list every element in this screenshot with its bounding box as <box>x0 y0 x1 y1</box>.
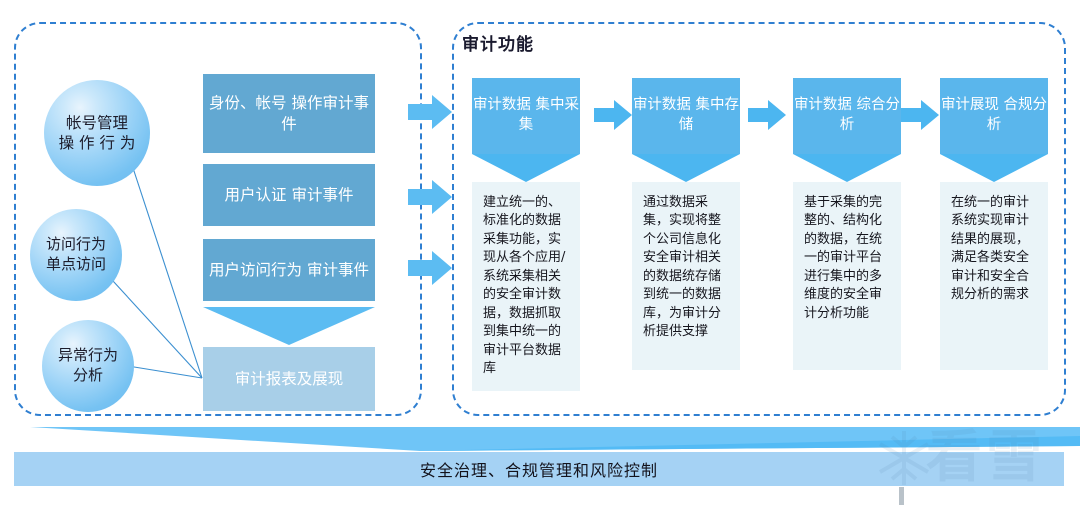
right-arrow-icon <box>748 100 786 130</box>
right-arrow-icon <box>408 180 452 214</box>
bubble-line-2: 分析 <box>58 366 118 386</box>
step-header: 审计数据 集中采集 <box>472 78 580 154</box>
event-box-line-1: 用户访问行为 <box>209 261 302 279</box>
bubble-anomaly-analysis[interactable]: 异常行为 分析 <box>42 320 134 412</box>
right-arrow-icon <box>408 251 452 285</box>
event-box-line-1: 用户认证 <box>225 186 287 204</box>
right-arrow-icon <box>901 100 939 130</box>
bottom-banner-label: 安全治理、合规管理和风险控制 <box>420 457 658 481</box>
bubble-line-1: 帐号管理 <box>59 113 136 133</box>
report-box-audit-report[interactable]: 审计报表及展现 <box>203 347 375 411</box>
step-description: 建立统一的、标准化的数据采集功能，实现从各个应用/系统采集相关的安全审计数据，数… <box>472 182 580 391</box>
step-column-presentation[interactable]: 审计展现 合规分析 在统一的审计系统实现审计结果的展现，满足各类安全审计和安全合… <box>940 78 1048 370</box>
down-chevron-icon <box>203 307 375 345</box>
step-header-line-1: 审计数据 <box>794 97 852 113</box>
step-description: 基于采集的完整的、结构化的数据，在统一的审计平台进行集中的多维度的安全审计分析功… <box>793 182 901 370</box>
right-arrow-icon <box>594 100 632 130</box>
page-title: 审计功能 <box>462 30 534 55</box>
event-box-line-2: 操作审计事件 <box>281 94 369 133</box>
event-box-user-auth[interactable]: 用户认证 审计事件 <box>203 164 375 226</box>
step-column-analysis[interactable]: 审计数据 综合分析 基于采集的完整的、结构化的数据，在统一的审计平台进行集中的多… <box>793 78 901 370</box>
down-chevron-icon <box>472 154 580 182</box>
down-chevron-icon <box>632 154 740 182</box>
step-column-storage[interactable]: 审计数据 集中存储 通过数据采集，实现将整个公司信息化安全审计相关的数据统存储到… <box>632 78 740 370</box>
bubble-access-behavior[interactable]: 访问行为 单点访问 <box>30 209 122 301</box>
right-arrow-icon <box>408 95 452 129</box>
down-chevron-icon <box>940 154 1048 182</box>
step-header-line-1: 审计数据 <box>633 97 691 113</box>
event-box-line-2: 审计事件 <box>291 186 353 204</box>
bubble-account-management[interactable]: 帐号管理 操 作 行 为 <box>44 80 150 186</box>
event-box-user-access[interactable]: 用户访问行为 审计事件 <box>203 239 375 301</box>
bubble-line-2: 单点访问 <box>46 255 106 275</box>
bottom-banner[interactable]: 安全治理、合规管理和风险控制 <box>14 452 1064 486</box>
event-box-identity-account[interactable]: 身份、帐号 操作审计事件 <box>203 74 375 153</box>
step-header-line-1: 审计数据 <box>473 97 531 113</box>
down-chevron-icon <box>793 154 901 182</box>
report-box-label: 审计报表及展现 <box>235 369 344 390</box>
text-cursor <box>899 487 904 505</box>
step-description: 通过数据采集，实现将整个公司信息化安全审计相关的数据统存储到统一的数据库，为审计… <box>632 182 740 370</box>
step-header: 审计数据 综合分析 <box>793 78 901 154</box>
diagram-canvas: 帐号管理 操 作 行 为 访问行为 单点访问 异常行为 分析 身份、帐号 操作审… <box>0 0 1080 507</box>
bubble-line-2: 操 作 行 为 <box>59 133 136 153</box>
step-description: 在统一的审计系统实现审计结果的展现，满足各类安全审计和安全合规分析的需求 <box>940 182 1048 370</box>
step-header: 审计展现 合规分析 <box>940 78 1048 154</box>
bubble-line-1: 异常行为 <box>58 346 118 366</box>
step-header: 审计数据 集中存储 <box>632 78 740 154</box>
step-header-line-1: 审计展现 <box>941 97 999 113</box>
event-box-line-1: 身份、帐号 <box>209 94 287 112</box>
event-box-line-2: 审计事件 <box>307 261 369 279</box>
step-column-collection[interactable]: 审计数据 集中采集 建立统一的、标准化的数据采集功能，实现从各个应用/系统采集相… <box>472 78 580 391</box>
bubble-line-1: 访问行为 <box>46 235 106 255</box>
